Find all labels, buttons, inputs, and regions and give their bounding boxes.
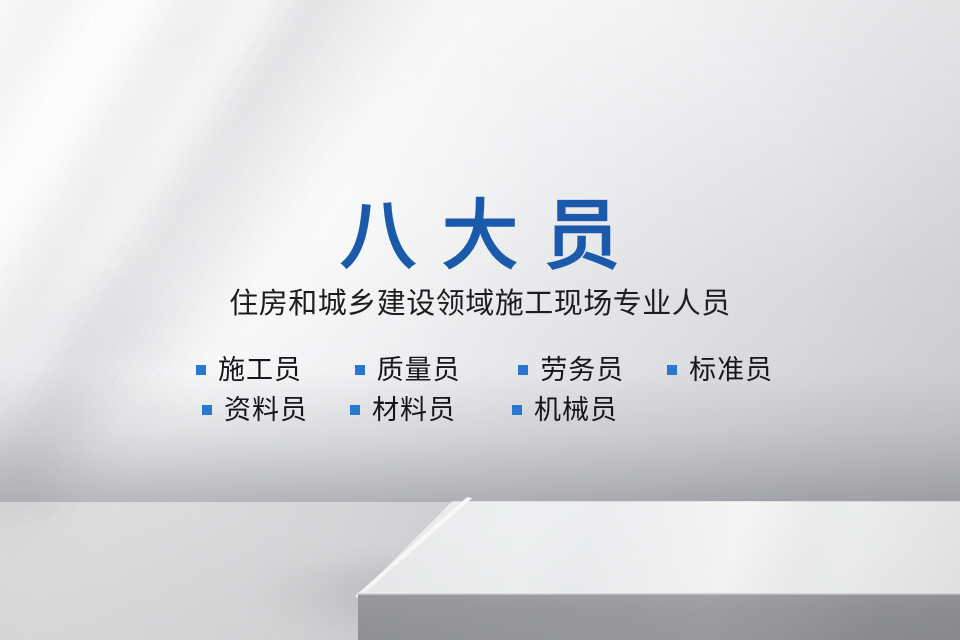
role-row: 资料员 材料员 机械员 [202, 390, 796, 430]
role-item-jixieyuan: 机械员 [512, 394, 662, 426]
role-item-biaozhunyuan: 标准员 [667, 354, 796, 386]
role-item-laowuyuan: 劳务员 [518, 354, 667, 386]
role-label: 劳务员 [540, 354, 624, 386]
bullet-square-icon [202, 405, 212, 415]
bullet-square-icon [518, 365, 528, 375]
bullet-square-icon [667, 365, 677, 375]
role-item-shigongyuan: 施工员 [196, 354, 355, 386]
role-row: 施工员 质量员 劳务员 标准员 [196, 350, 796, 390]
role-list: 施工员 质量员 劳务员 标准员 资料员 [196, 350, 796, 430]
poster-content: 八大员 住房和城乡建设领域施工现场专业人员 施工员 质量员 劳务员 [0, 0, 960, 640]
role-label: 质量员 [377, 354, 461, 386]
bullet-square-icon [355, 365, 365, 375]
poster-canvas: 八大员 住房和城乡建设领域施工现场专业人员 施工员 质量员 劳务员 [0, 0, 960, 640]
poster-headline: 八大员 [0, 192, 960, 282]
bullet-square-icon [196, 365, 206, 375]
role-item-ziliaoyuan: 资料员 [202, 394, 350, 426]
poster-subheadline: 住房和城乡建设领域施工现场专业人员 [0, 286, 960, 322]
role-item-cailiaoyuan: 材料员 [350, 394, 512, 426]
bullet-square-icon [350, 405, 360, 415]
bullet-square-icon [512, 405, 522, 415]
role-label: 资料员 [224, 394, 308, 426]
role-item-zhiliangyuan: 质量员 [355, 354, 519, 386]
role-label: 材料员 [372, 394, 456, 426]
role-label: 标准员 [689, 354, 773, 386]
role-label: 机械员 [534, 394, 618, 426]
role-label: 施工员 [218, 354, 302, 386]
